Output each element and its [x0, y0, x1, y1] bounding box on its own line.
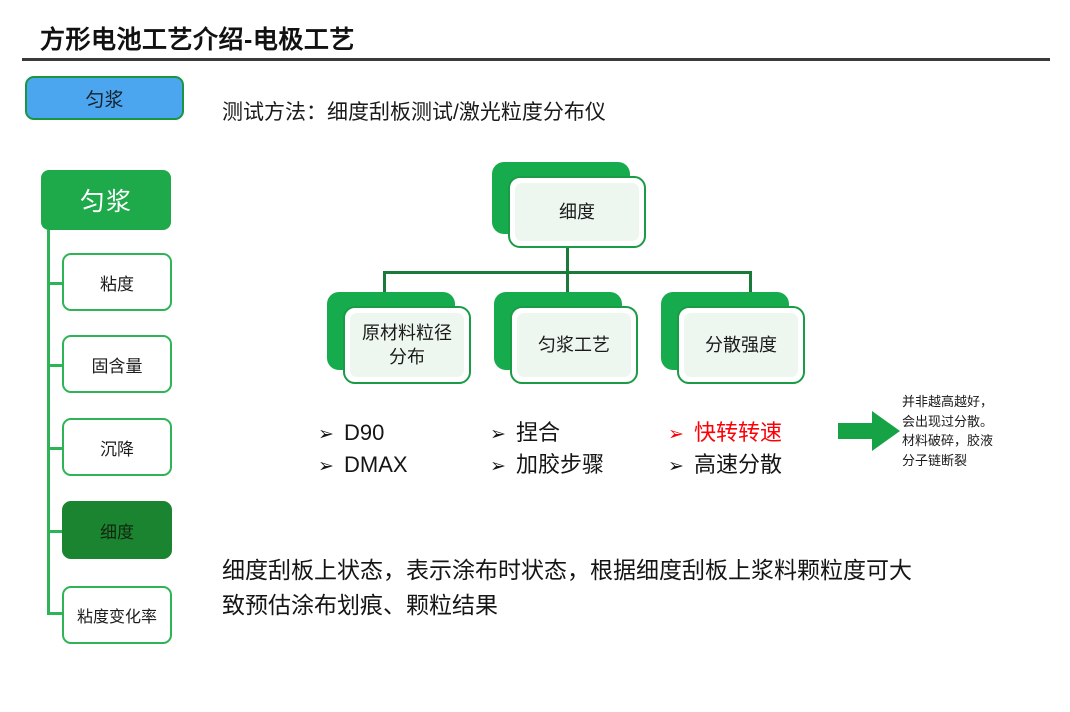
slide-canvas: 方形电池工艺介绍-电极工艺 匀浆 测试方法：细度刮板测试/激光粒度分布仪 匀浆 …	[0, 0, 1070, 712]
note-line: 会出现过分散。	[902, 412, 1054, 432]
note-line: 分子链断裂	[902, 451, 1054, 471]
sidebar-root-homogenization[interactable]: 匀浆	[41, 170, 171, 230]
bullet-arrow-icon: ➢	[490, 421, 516, 449]
flow-node-dispersion-intensity[interactable]: 分散强度	[661, 292, 789, 370]
chapter-tag-label: 匀浆	[85, 85, 123, 112]
bullet-arrow-icon: ➢	[490, 453, 516, 481]
bullet-text: DMAX	[344, 452, 408, 477]
note-line: 材料破碎，胶液	[902, 431, 1054, 451]
bullet-text: 快转转速	[694, 420, 782, 445]
sidebar-item-fineness[interactable]: 细度	[62, 501, 172, 559]
sidebar-item-viscosity[interactable]: 粘度	[62, 253, 172, 311]
sidebar-stub-2	[47, 364, 62, 367]
bullet-item-highlighted[interactable]: ➢快转转速	[668, 417, 782, 449]
sidebar-item-label: 粘度	[100, 270, 134, 295]
sidebar-item-label: 固含量	[92, 352, 143, 377]
bullet-column-dispersion: ➢快转转速 ➢高速分散	[668, 417, 782, 481]
flow-node-fineness[interactable]: 细度	[492, 162, 630, 234]
right-arrow-icon	[838, 411, 900, 451]
sidebar-item-solid-content[interactable]: 固含量	[62, 335, 172, 393]
bullet-text: 加胶步骤	[516, 452, 604, 477]
bullet-item[interactable]: ➢D90	[318, 417, 408, 449]
chapter-tag-homogenization[interactable]: 匀浆	[25, 76, 184, 120]
flow-node-slurry-process[interactable]: 匀浆工艺	[494, 292, 622, 370]
sidebar-stub-1	[47, 282, 62, 285]
sidebar-stub-4	[47, 530, 62, 533]
bullet-item[interactable]: ➢捏合	[490, 417, 604, 449]
node-label: 原材料粒径 分布	[350, 313, 464, 377]
sidebar-item-sedimentation[interactable]: 沉降	[62, 418, 172, 476]
sidebar-item-label: 细度	[100, 518, 134, 543]
bullet-arrow-icon: ➢	[318, 421, 344, 449]
bullet-text: 捏合	[516, 420, 560, 445]
sidebar-item-viscosity-change-rate[interactable]: 粘度变化率	[62, 586, 172, 644]
bullet-text: D90	[344, 420, 384, 445]
test-method-text: 测试方法：细度刮板测试/激光粒度分布仪	[222, 96, 606, 126]
bullet-arrow-icon: ➢	[668, 453, 694, 481]
node-label: 细度	[515, 183, 639, 241]
sidebar-item-label: 沉降	[100, 435, 134, 460]
page-title: 方形电池工艺介绍-电极工艺	[40, 20, 355, 56]
flow-node-raw-material-particle-size[interactable]: 原材料粒径 分布	[327, 292, 455, 370]
sidebar-stub-3	[47, 447, 62, 450]
summary-paragraph: 细度刮板上状态，表示涂布时状态，根据细度刮板上浆料颗粒度可大致预估涂布划痕、颗粒…	[222, 553, 922, 622]
dispersion-note: 并非越高越好， 会出现过分散。 材料破碎，胶液 分子链断裂	[902, 392, 1054, 470]
bullet-item[interactable]: ➢加胶步骤	[490, 449, 604, 481]
sidebar-root-label: 匀浆	[80, 182, 132, 218]
bullet-text: 高速分散	[694, 452, 782, 477]
bullet-arrow-icon: ➢	[668, 421, 694, 449]
bullet-column-slurry-process: ➢捏合 ➢加胶步骤	[490, 417, 604, 481]
sidebar-trunk-line	[47, 230, 50, 614]
note-line: 并非越高越好，	[902, 392, 1054, 412]
title-divider	[22, 58, 1050, 61]
sidebar-item-label: 粘度变化率	[77, 603, 157, 627]
bullet-column-particle-size: ➢D90 ➢DMAX	[318, 417, 408, 481]
sidebar-stub-5	[47, 612, 62, 615]
bullet-arrow-icon: ➢	[318, 453, 344, 481]
node-label: 匀浆工艺	[517, 313, 631, 377]
bullet-item[interactable]: ➢DMAX	[318, 449, 408, 481]
bullet-item[interactable]: ➢高速分散	[668, 449, 782, 481]
node-label: 分散强度	[684, 313, 798, 377]
